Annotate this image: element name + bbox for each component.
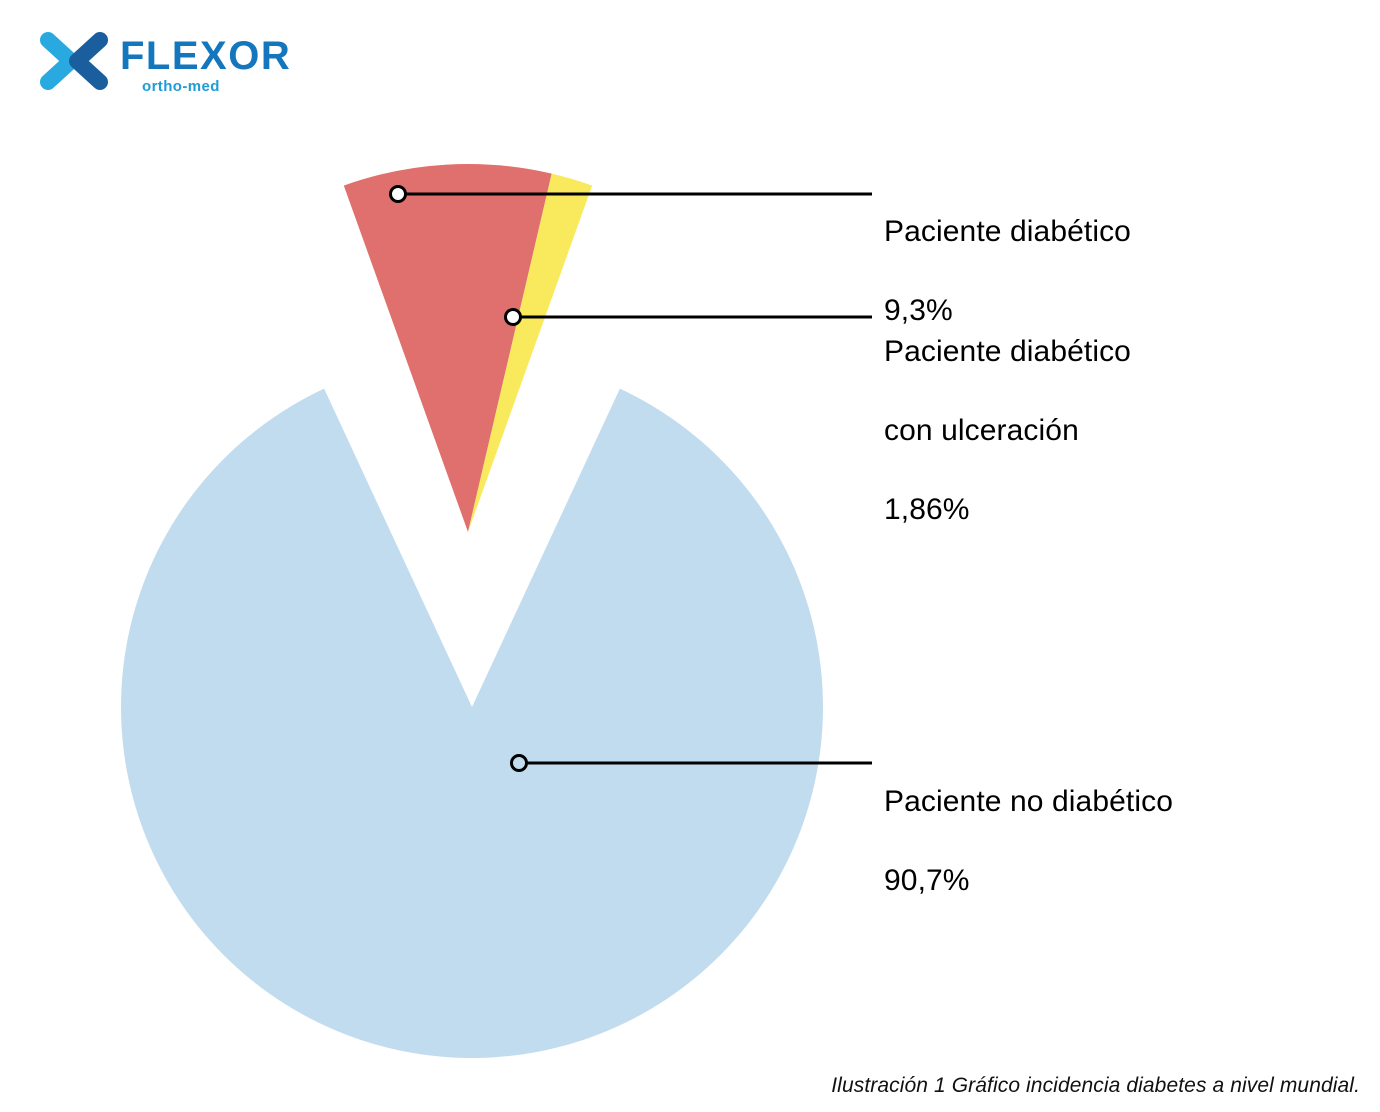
figure-caption: Ilustración 1 Gráfico incidencia diabete…	[831, 1074, 1360, 1098]
callout-label-value: 1,86%	[884, 490, 1131, 530]
callout-label-name-line2: con ulceración	[884, 411, 1131, 451]
callout-dot-paciente-diabetico	[391, 187, 406, 202]
callout-dot-paciente-no-diabetico	[512, 756, 527, 771]
callout-dot-paciente-diabetico-con-ulceracion	[506, 310, 521, 325]
callout-label-name-line1: Paciente diabético	[884, 332, 1131, 372]
callout-leader-paciente-diabetico-con-ulceracion	[506, 310, 873, 325]
callout-label-paciente-no-diabetico: Paciente no diabético 90,7%	[884, 742, 1173, 940]
callout-label-name: Paciente no diabético	[884, 782, 1173, 822]
callout-label-name: Paciente diabético	[884, 212, 1131, 252]
callout-label-paciente-diabetico-con-ulceracion: Paciente diabético con ulceración 1,86%	[884, 292, 1131, 569]
callout-label-value: 90,7%	[884, 861, 1173, 901]
pie-chart: Paciente diabético 9,3% Paciente diabéti…	[0, 0, 1380, 1112]
